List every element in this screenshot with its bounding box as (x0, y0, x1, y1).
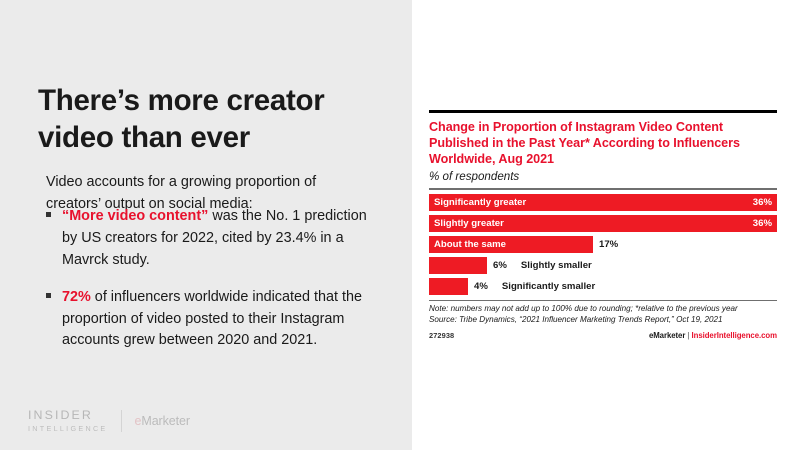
bar-category-label: Slightly smaller (521, 260, 592, 271)
list-item: “More video content” was the No. 1 predi… (46, 206, 368, 272)
bar-outside-group: 4% Significantly smaller (468, 278, 595, 295)
bar-value-label: 6% (493, 260, 507, 271)
bar-row: Slightly greater 36% (429, 215, 777, 232)
bar-category-label: Slightly greater (434, 218, 504, 229)
bar-fill (429, 278, 468, 295)
bar-outside-group: 6% Slightly smaller (487, 257, 592, 274)
bar-row: Significantly greater 36% (429, 194, 777, 211)
bar-row: About the same 17% (429, 236, 777, 253)
page-title: There’s more creator video than ever (38, 82, 378, 156)
chart-subtitle: % of respondents (429, 170, 777, 183)
emarketer-logo: eMarketer (135, 414, 190, 428)
chart-footer-rule (429, 300, 777, 301)
bar-fill: Slightly greater 36% (429, 215, 777, 232)
bar-outside-group: 17% (593, 236, 618, 253)
chart-note: Note: numbers may not add up to 100% due… (429, 303, 777, 314)
chart-card: Change in Proportion of Instagram Video … (429, 110, 777, 340)
bar-row: 6% Slightly smaller (429, 257, 777, 274)
bar-value-label: 36% (753, 218, 772, 229)
chart-title: Change in Proportion of Instagram Video … (429, 119, 777, 167)
bar-fill (429, 257, 487, 274)
chart-attribution: eMarketer|InsiderIntelligence.com (649, 331, 777, 340)
insider-logo-word: INSIDER (28, 409, 108, 421)
chart-top-rule (429, 110, 777, 113)
bar-fill: About the same (429, 236, 593, 253)
bar-value-label: 4% (474, 281, 488, 292)
brand-logo-lockup: INSIDER INTELLIGENCE eMarketer (28, 409, 190, 432)
bar-chart-plot: Significantly greater 36% Slightly great… (429, 194, 777, 295)
bullet-text: of influencers worldwide indicated that … (62, 289, 362, 349)
list-item: 72% of influencers worldwide indicated t… (46, 287, 368, 353)
chart-id: 272938 (429, 331, 454, 340)
insider-intelligence-logo: INSIDER INTELLIGENCE (28, 409, 108, 432)
bar-fill: Significantly greater 36% (429, 194, 777, 211)
bullet-highlight: “More video content” (62, 208, 208, 224)
chart-header-rule (429, 188, 777, 189)
left-content-panel: There’s more creator video than ever Vid… (0, 0, 412, 450)
chart-source: Source: Tribe Dynamics, “2021 Influencer… (429, 314, 777, 325)
bar-category-label: Significantly greater (434, 197, 526, 208)
bullet-list: “More video content” was the No. 1 predi… (46, 206, 368, 367)
bullet-square-icon (46, 212, 51, 217)
attribution-brand: eMarketer (649, 331, 685, 340)
bar-category-label: Significantly smaller (502, 281, 595, 292)
bar-row: 4% Significantly smaller (429, 278, 777, 295)
attribution-separator: | (687, 331, 689, 340)
logo-divider (121, 410, 122, 432)
bullet-highlight: 72% (62, 289, 91, 305)
bullet-square-icon (46, 293, 51, 298)
intelligence-logo-word: INTELLIGENCE (28, 425, 108, 432)
bar-value-label: 36% (753, 197, 772, 208)
slide-root: There’s more creator video than ever Vid… (0, 0, 800, 450)
chart-footer: 272938 eMarketer|InsiderIntelligence.com (429, 331, 777, 340)
bar-value-label: 17% (599, 239, 618, 250)
bar-category-label: About the same (434, 239, 506, 250)
attribution-site-link[interactable]: InsiderIntelligence.com (691, 331, 777, 340)
emarketer-logo-word: Marketer (141, 414, 190, 428)
